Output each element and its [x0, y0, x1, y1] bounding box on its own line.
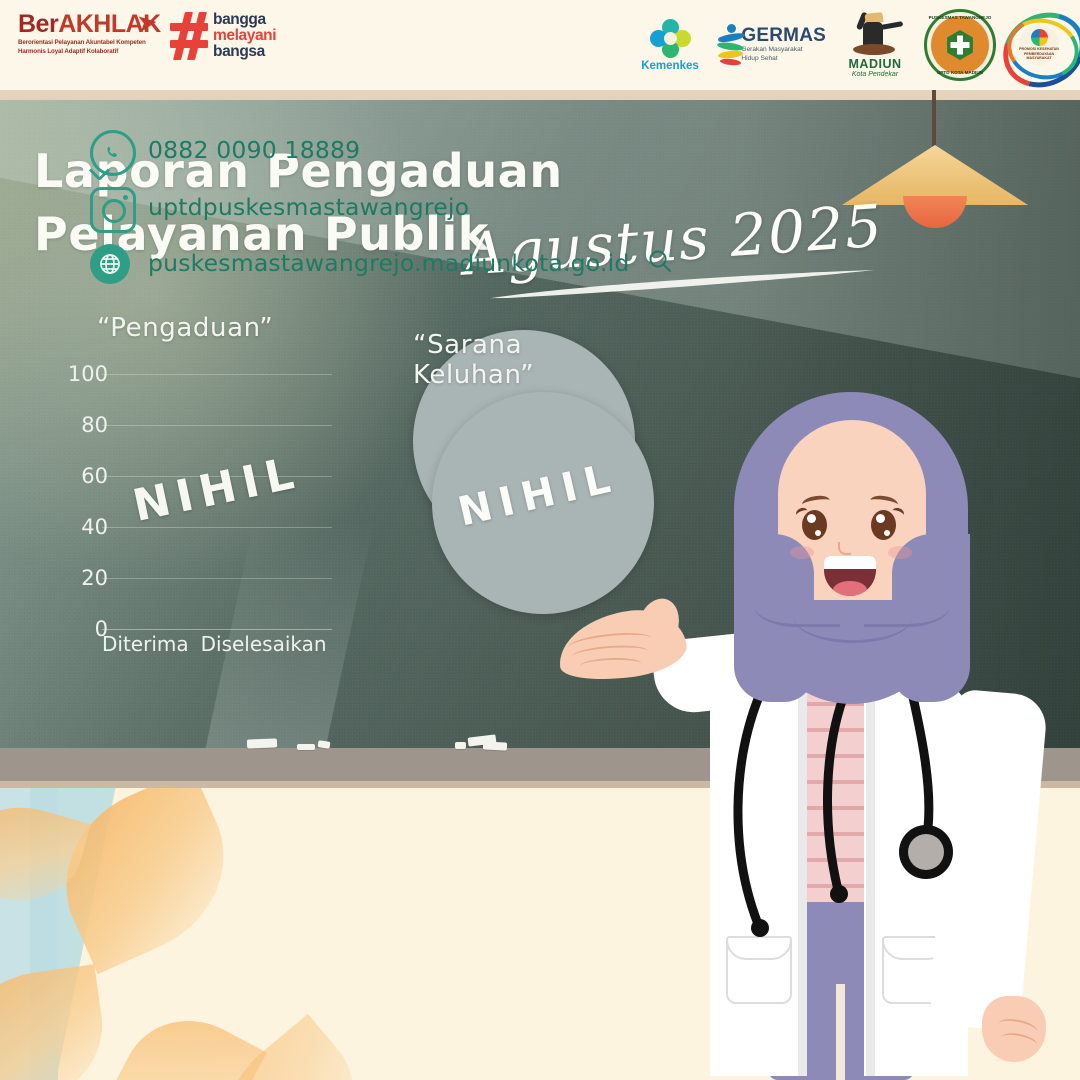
x-axis-labels: Diterima Diselesaikan: [102, 632, 342, 656]
instagram-handle[interactable]: uptdpuskesmastawangrejo: [148, 193, 469, 221]
eye-highlight: [884, 530, 890, 536]
germas-sub-1: Gerakan Masyarakat: [741, 46, 826, 55]
bangga-wordmark: bangga melayani bangsa: [213, 12, 276, 59]
bangga-line-1: bangga: [213, 12, 276, 28]
x-tick: Diterima: [102, 632, 189, 656]
bar-chart-nihil-overlay: NIHIL: [129, 447, 305, 532]
germas-logo: GERMAS Gerakan Masyarakat Hidup Sehat: [716, 23, 826, 67]
bar-chart-title: “Pengaduan”: [97, 313, 273, 343]
chalk-piece-icon: [483, 741, 507, 750]
gridline: [102, 578, 332, 579]
axis-baseline: [102, 629, 332, 630]
x-tick: Diselesaikan: [201, 632, 327, 656]
madiun-subtitle: Kota Pendekar: [852, 71, 898, 78]
madiun-wordmark: MADIUN: [849, 58, 902, 71]
eye-highlight: [815, 530, 821, 536]
header-right-logos: Kemenkes GERMAS Gerakan Masyarakat Hidup…: [630, 6, 1076, 84]
globe-icon: [90, 244, 130, 284]
header-bar: BerAKHLAK ➤ Berorientasi Pelayanan Akunt…: [0, 0, 1080, 90]
contact-row-instagram[interactable]: uptdpuskesmastawangrejo: [90, 187, 673, 227]
germas-sub-2: Hidup Sehat: [741, 55, 826, 64]
hashtag-icon: [170, 12, 208, 60]
promkes-logo: PROMOSI KESEHATAN PEMBERDAYAAN MASYARAKA…: [1002, 14, 1076, 76]
seal-top-text: PUSKESMAS TAWANGREJO: [929, 15, 992, 20]
pendant-lamp-cord: [932, 88, 936, 150]
instagram-dot: [123, 195, 128, 200]
contact-row-website[interactable]: puskesmastawangrejo.madiunkota.go.id: [90, 244, 673, 284]
person-active-icon: [716, 23, 738, 67]
gridline: [102, 527, 332, 528]
madiun-logo: MADIUN Kota Pendekar: [832, 12, 918, 78]
contact-list: 0882 0090 18889 uptdpuskesmastawangrejo: [90, 130, 673, 301]
berakhlak-ber: Ber: [18, 10, 58, 38]
germas-title: GERMAS: [741, 26, 826, 46]
bangga-line-2: melayani: [213, 28, 276, 44]
cheek-blush: [790, 546, 814, 559]
whatsapp-number[interactable]: 0882 0090 18889: [148, 136, 360, 164]
poster-canvas: Laporan Pengaduan Pelayanan Publik Agust…: [0, 0, 1080, 1080]
berakhlak-tagline-line-1: Berorientasi Pelayanan Akuntabel Kompete…: [18, 39, 160, 48]
puskesmas-tawangrejo-seal: PUSKESMAS TAWANGREJO UPTD KOTA MADIUN: [924, 9, 996, 81]
chevron-up-right-icon: ➤: [136, 9, 158, 37]
promkes-center: PROMOSI KESEHATAN PEMBERDAYAAN MASYARAKA…: [1019, 25, 1059, 65]
gridline: [102, 425, 332, 426]
berakhlak-tagline-line-2: Harmonis Loyal Adaptif Kolaboratif: [18, 48, 160, 57]
bar-chart: 100 80 60 40 20 0 NIHIL Diterima Diseles…: [40, 360, 340, 660]
website-url[interactable]: puskesmastawangrejo.madiunkota.go.id: [148, 249, 629, 277]
bangga-line-3: bangsa: [213, 44, 276, 60]
hijab-fold-line: [794, 592, 912, 643]
berakhlak-tagline: Berorientasi Pelayanan Akuntabel Kompete…: [18, 39, 160, 57]
instagram-icon: [90, 187, 130, 227]
chalk-piece-icon: [297, 744, 315, 750]
cheek-blush: [888, 546, 912, 559]
chalk-piece-icon: [455, 742, 466, 749]
eye-highlight: [876, 514, 885, 523]
whatsapp-icon: [90, 130, 130, 170]
contact-row-whatsapp[interactable]: 0882 0090 18889: [90, 130, 673, 170]
tongue: [833, 581, 867, 596]
seal-bottom-text: UPTD KOTA MADIUN: [937, 70, 983, 75]
promkes-label: PROMOSI KESEHATAN PEMBERDAYAAN MASYARAKA…: [1019, 47, 1059, 60]
gridline: [102, 374, 332, 375]
teeth: [824, 556, 876, 569]
multicolor-swoosh-icon: PROMOSI KESEHATAN PEMBERDAYAAN MASYARAKA…: [1002, 14, 1076, 76]
bangga-melayani-bangsa-logo: bangga melayani bangsa: [170, 12, 276, 60]
chalk-piece-icon: [247, 738, 277, 748]
instagram-lens: [102, 199, 126, 223]
magnifier-icon[interactable]: [647, 248, 673, 280]
kemenkes-logo: Kemenkes: [630, 19, 710, 72]
clover-icon: [648, 19, 692, 59]
nose: [838, 542, 851, 555]
kemenkes-label: Kemenkes: [641, 60, 699, 72]
medical-cross-hexagon-icon: PUSKESMAS TAWANGREJO UPTD KOTA MADIUN: [924, 9, 996, 81]
eye-highlight: [807, 514, 816, 523]
berakhlak-logo: BerAKHLAK ➤ Berorientasi Pelayanan Akunt…: [18, 12, 168, 57]
doctor-illustration: [546, 384, 1080, 1080]
header-left-logos: BerAKHLAK ➤ Berorientasi Pelayanan Akunt…: [14, 8, 314, 78]
promkes-pinwheel-icon: [1031, 29, 1048, 46]
chalk-piece-icon: [318, 740, 331, 749]
pendekar-figure-icon: [845, 12, 905, 58]
